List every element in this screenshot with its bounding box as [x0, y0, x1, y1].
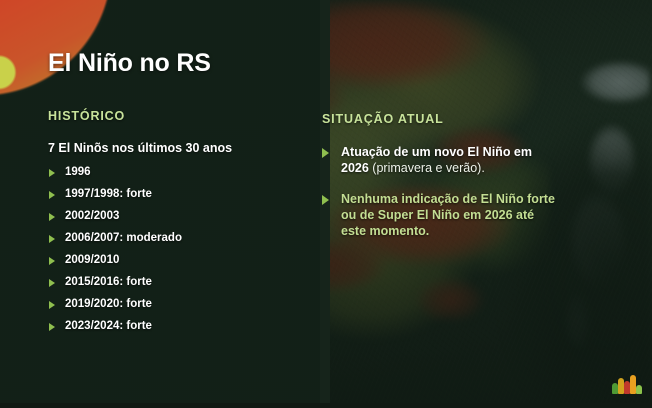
column-situacao-atual: SITUAÇÃO ATUAL Atuação de um novo El Niñ…: [322, 112, 562, 253]
list-item-label: 2006/2007: moderado: [65, 232, 182, 244]
bottom-edge-bar: [0, 403, 652, 408]
list-item-soft-label: (primavera e verão).: [369, 161, 485, 175]
triangle-bullet-icon: [49, 235, 55, 243]
list-item-label: 2015/2016: forte: [65, 276, 152, 288]
situacao-atual-list: Atuação de um novo El Niño em 2026 (prim…: [322, 144, 562, 239]
slide-content: El Niño no RS HISTÓRICO 7 El Ninõs nos ú…: [0, 0, 652, 408]
list-item: 2002/2003: [48, 210, 298, 224]
triangle-bullet-icon: [49, 301, 55, 309]
list-item: 2006/2007: moderado: [48, 232, 298, 246]
list-item-label: 2002/2003: [65, 210, 119, 222]
column-heading-historico: HISTÓRICO: [48, 109, 298, 123]
list-item: 1996: [48, 166, 298, 180]
triangle-bullet-icon: [49, 169, 55, 177]
triangle-bullet-icon: [322, 195, 329, 205]
triangle-bullet-icon: [49, 191, 55, 199]
list-item: Nenhuma indicação de El Niño forte ou de…: [322, 191, 562, 240]
historico-list: 1996 1997/1998: forte 2002/2003 2006/200…: [48, 166, 298, 334]
column-historico: HISTÓRICO 7 El Ninõs nos últimos 30 anos…: [48, 109, 298, 343]
list-item-label: 2009/2010: [65, 254, 119, 266]
triangle-bullet-icon: [49, 213, 55, 221]
logo-bar-5: [636, 385, 642, 394]
list-item-label: 2023/2024: forte: [65, 320, 152, 332]
multicolor-bars-logo: [612, 372, 642, 394]
list-item: 2009/2010: [48, 254, 298, 268]
triangle-bullet-icon: [49, 257, 55, 265]
list-item: 2019/2020: forte: [48, 298, 298, 312]
list-item: 2023/2024: forte: [48, 320, 298, 334]
list-item-label: 2019/2020: forte: [65, 298, 152, 310]
list-item-strong-label: Nenhuma indicação de El Niño forte ou de…: [341, 192, 555, 239]
list-item: 2015/2016: forte: [48, 276, 298, 290]
triangle-bullet-icon: [49, 323, 55, 331]
presentation-slide: El Niño no RS HISTÓRICO 7 El Ninõs nos ú…: [0, 0, 652, 408]
historico-lead-text: 7 El Ninõs nos últimos 30 anos: [48, 141, 298, 155]
list-item: Atuação de um novo El Niño em 2026 (prim…: [322, 144, 562, 177]
list-item-label: 1997/1998: forte: [65, 188, 152, 200]
list-item: 1997/1998: forte: [48, 188, 298, 202]
list-item-label: 1996: [65, 166, 91, 178]
triangle-bullet-icon: [49, 279, 55, 287]
column-heading-situacao-atual: SITUAÇÃO ATUAL: [322, 112, 562, 126]
page-title: El Niño no RS: [48, 49, 211, 78]
triangle-bullet-icon: [322, 148, 329, 158]
